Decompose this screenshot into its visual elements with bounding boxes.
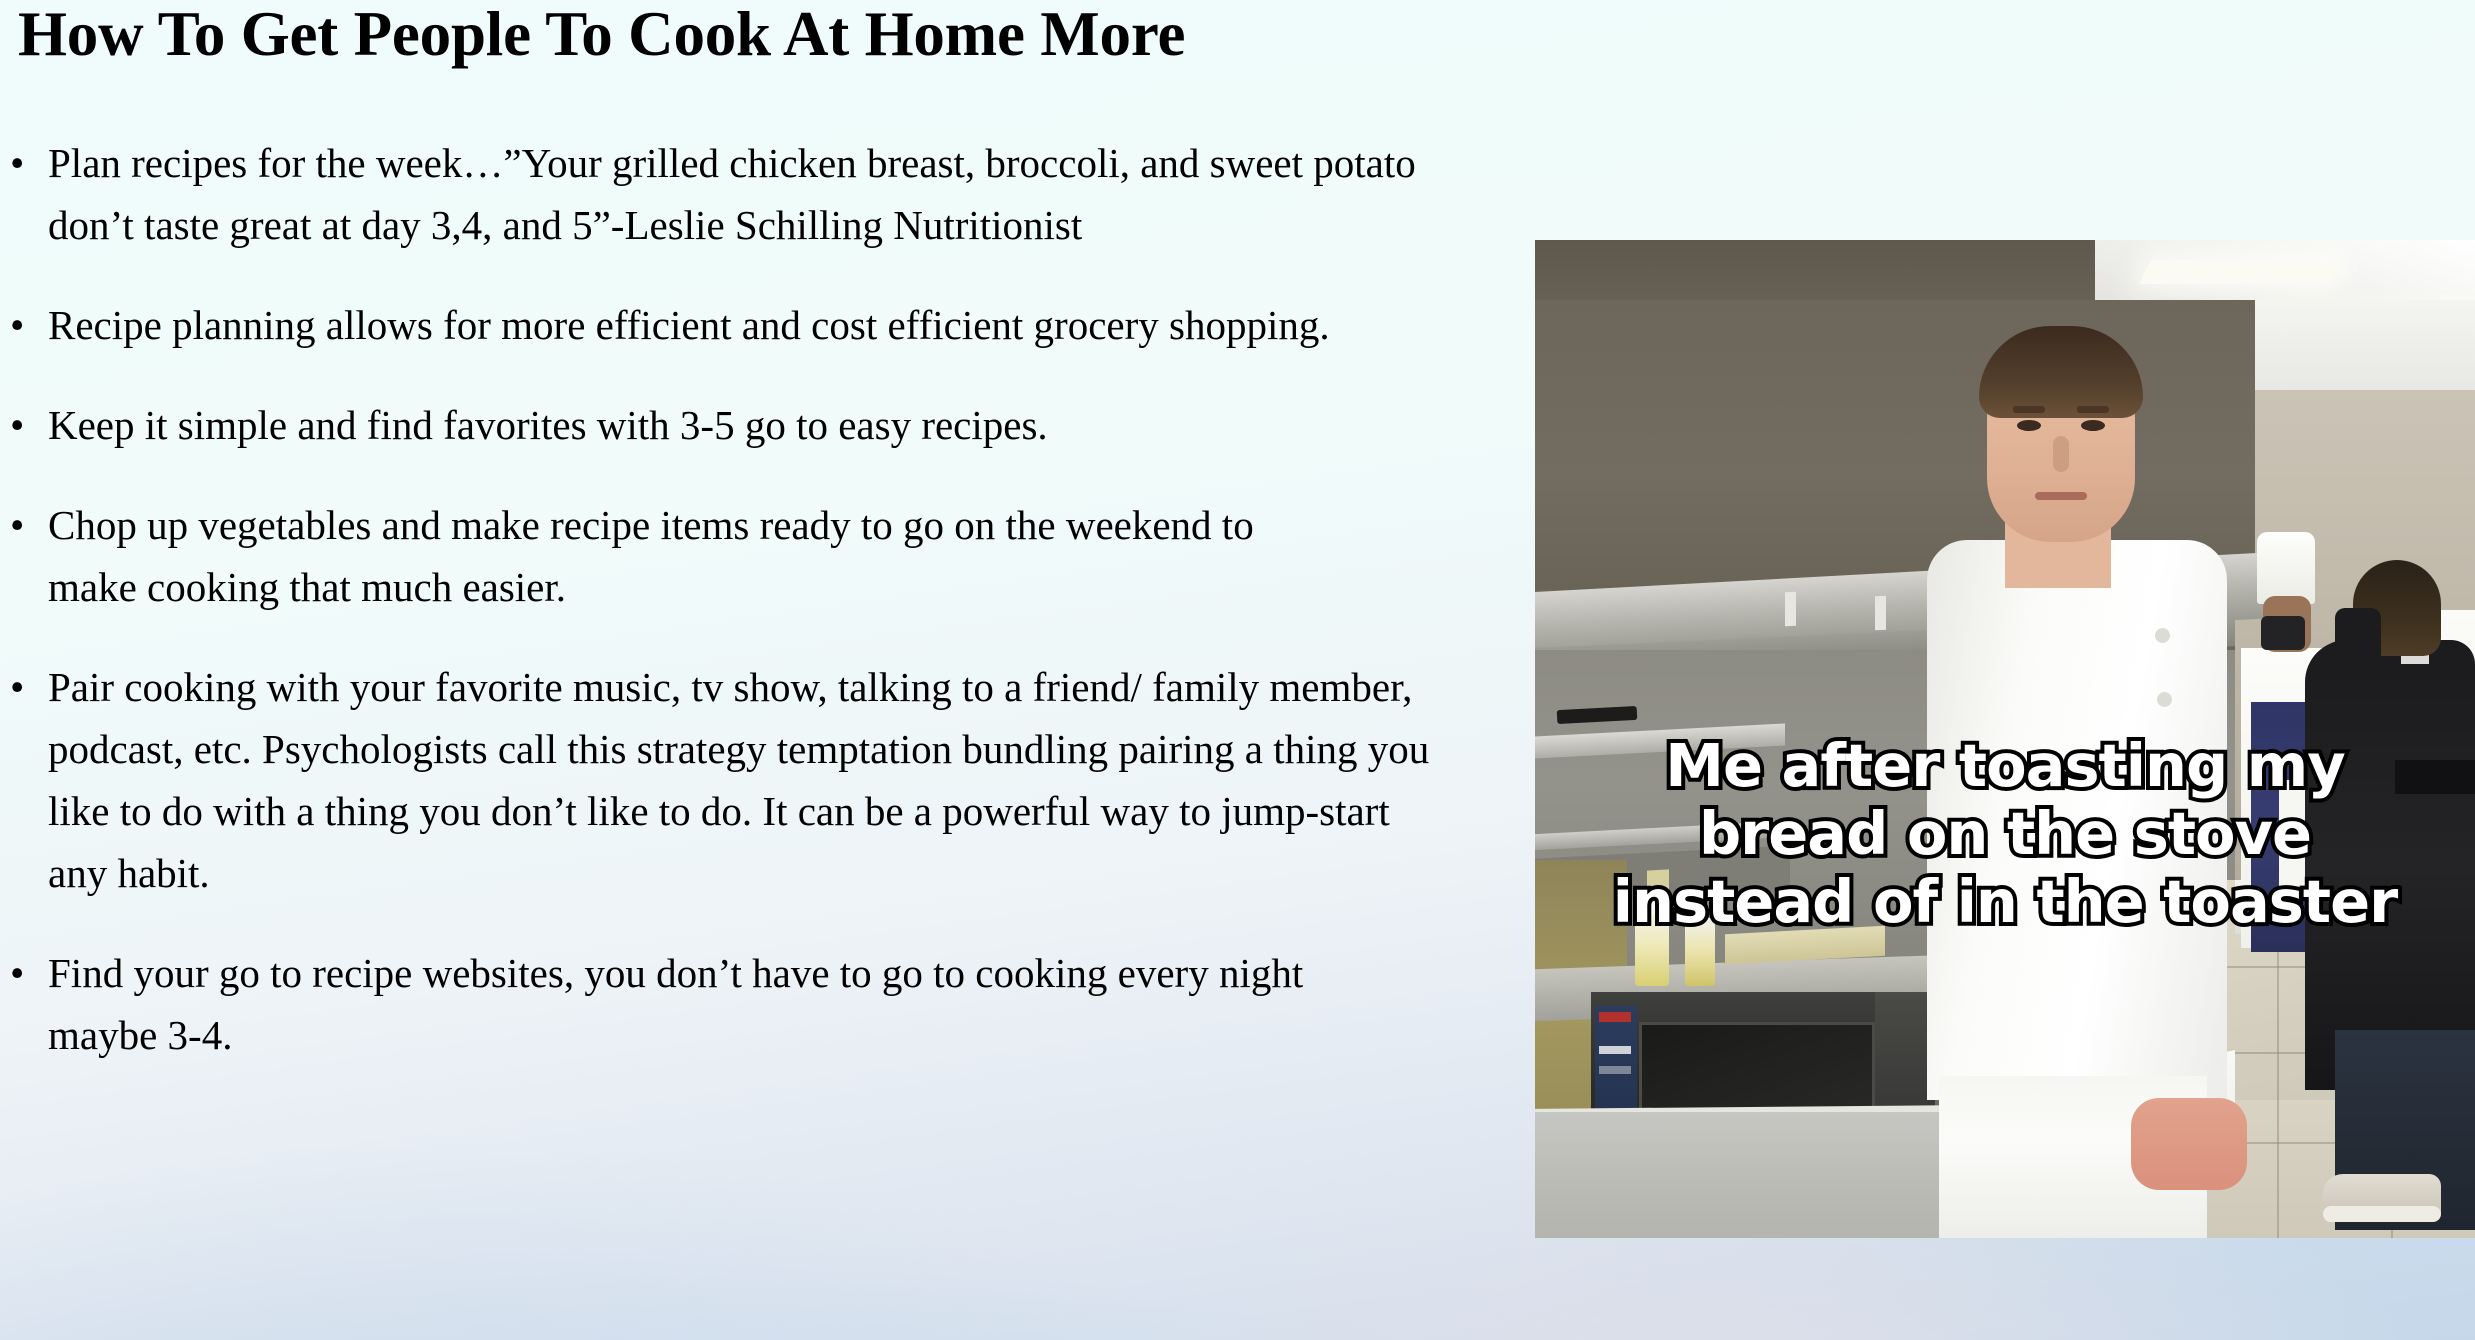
sneaker-sole bbox=[2323, 1206, 2441, 1222]
list-item: • Find your go to recipe websites, you d… bbox=[0, 942, 1530, 1066]
bullet-chop-vegetables: Chop up vegetables and make recipe items… bbox=[48, 494, 1338, 618]
jacket-button-icon bbox=[2157, 692, 2172, 707]
list-item: • Plan recipes for the week…”Your grille… bbox=[0, 132, 1530, 256]
eyebrow bbox=[2077, 406, 2109, 413]
meme-caption-line-3: instead of in the toaster bbox=[1535, 868, 2475, 936]
slide-canvas: How To Get People To Cook At Home More •… bbox=[0, 0, 2475, 1340]
mouth bbox=[2035, 492, 2087, 500]
eye bbox=[2081, 420, 2105, 431]
nose bbox=[2053, 436, 2069, 472]
bullet-plan-recipes: Plan recipes for the week…”Your grilled … bbox=[48, 132, 1448, 256]
bullet-marker-icon: • bbox=[10, 394, 24, 456]
oven-indicator-icon bbox=[1599, 1046, 1631, 1054]
bullet-recipe-planning: Recipe planning allows for more efficien… bbox=[48, 294, 1458, 356]
eyebrow bbox=[2013, 406, 2045, 413]
bullet-marker-icon: • bbox=[10, 494, 24, 556]
eye bbox=[2017, 420, 2041, 431]
jacket-button-icon bbox=[2155, 628, 2170, 643]
meme-image: Me after toasting my bread on the stove … bbox=[1535, 240, 2475, 1238]
chef-toque-icon bbox=[2257, 532, 2315, 604]
bullet-marker-icon: • bbox=[10, 942, 24, 1004]
face-mask-icon bbox=[2335, 608, 2381, 666]
bullet-recipe-websites: Find your go to recipe websites, you don… bbox=[48, 942, 1388, 1066]
meme-caption-line-1: Me after toasting my bbox=[1535, 732, 2475, 800]
list-item: • Pair cooking with your favorite music,… bbox=[0, 656, 1530, 904]
back-wall-upper bbox=[2235, 300, 2475, 400]
list-item: • Chop up vegetables and make recipe ite… bbox=[0, 494, 1530, 618]
bullet-marker-icon: • bbox=[10, 656, 24, 718]
list-item: • Keep it simple and find favorites with… bbox=[0, 394, 1530, 456]
bullet-list: • Plan recipes for the week…”Your grille… bbox=[0, 132, 1530, 1066]
bullet-pair-cooking: Pair cooking with your favorite music, t… bbox=[48, 656, 1448, 904]
bullet-marker-icon: • bbox=[10, 132, 24, 194]
ceiling-light-icon bbox=[2139, 260, 2341, 284]
page-title: How To Get People To Cook At Home More bbox=[18, 2, 1658, 66]
list-item: • Recipe planning allows for more effici… bbox=[0, 294, 1530, 356]
bullet-marker-icon: • bbox=[10, 294, 24, 356]
meme-caption-line-2: bread on the stove bbox=[1535, 800, 2475, 868]
bullet-keep-it-simple: Keep it simple and find favorites with 3… bbox=[48, 394, 1498, 456]
hood-clip-icon bbox=[1785, 592, 1796, 627]
clasped-hands bbox=[2131, 1098, 2247, 1190]
face-mask-icon bbox=[2261, 616, 2305, 650]
hood-clip-icon bbox=[1875, 596, 1886, 631]
oven-indicator-icon bbox=[1599, 1012, 1631, 1022]
meme-caption: Me after toasting my bread on the stove … bbox=[1535, 732, 2475, 936]
oven-indicator-icon bbox=[1599, 1066, 1631, 1074]
